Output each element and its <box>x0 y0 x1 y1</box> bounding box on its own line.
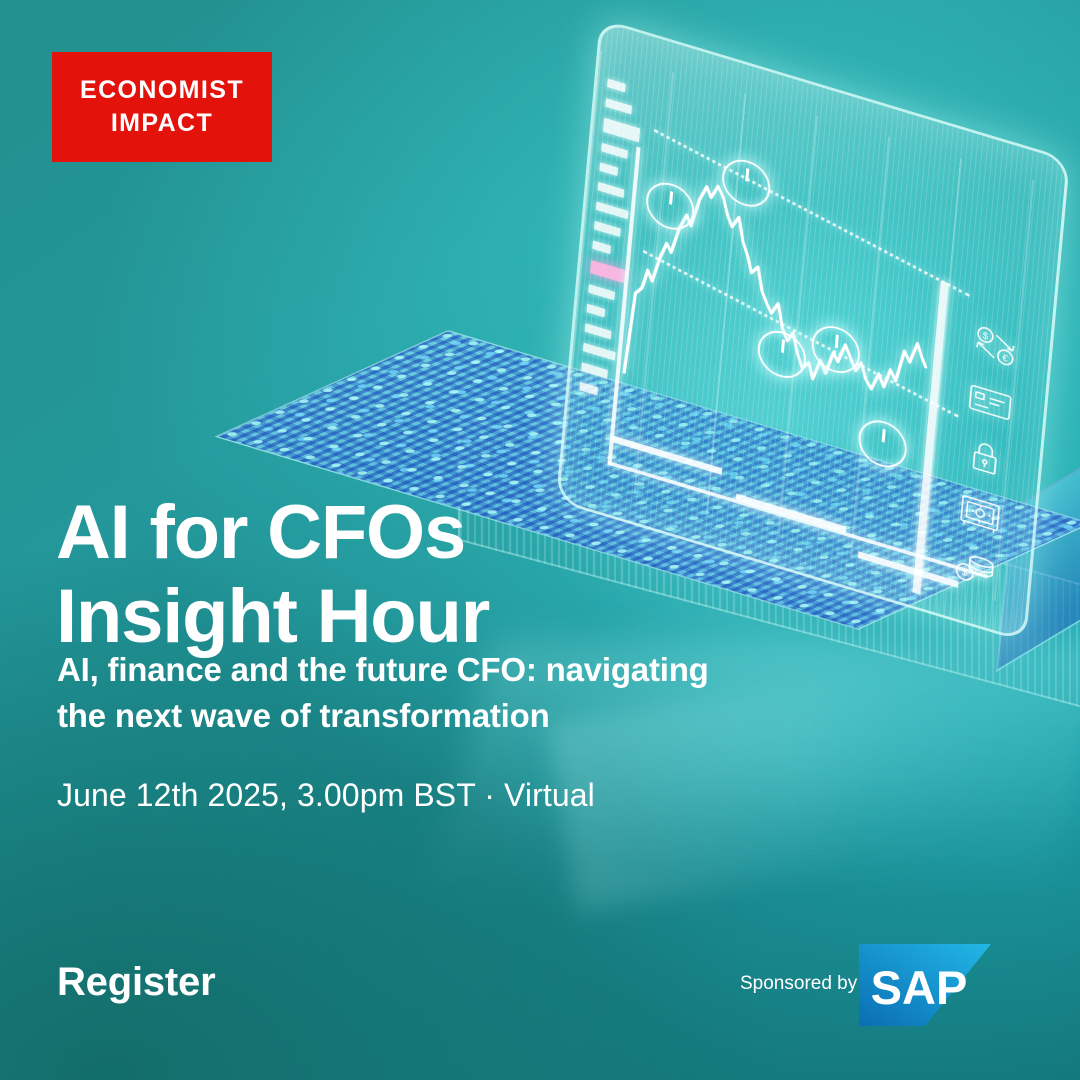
title-line-1: AI for CFOs <box>56 491 676 575</box>
sidebar-divider <box>912 281 948 595</box>
bottom-bar-segment <box>736 494 847 534</box>
data-point-marker <box>644 177 696 236</box>
credit-card-icon <box>960 376 1021 428</box>
axis-tick-scale <box>578 79 643 413</box>
trend-band-lower <box>643 250 959 418</box>
data-point-marker <box>857 414 909 473</box>
sponsored-by-label: Sponsored by <box>740 972 857 996</box>
event-subtitle: AI, finance and the future CFO: navigati… <box>57 647 747 739</box>
subtitle-line-1: AI, finance and the future CFO: navigati… <box>57 647 747 693</box>
highlighted-tick <box>590 260 625 283</box>
safe-vault-icon <box>950 487 1011 539</box>
poster-canvas: $ € <box>0 0 1080 1080</box>
svg-text:$: $ <box>961 568 968 580</box>
coin-stack-icon: $ <box>944 542 1005 594</box>
subtitle-line-2: the next wave of transformation <box>57 693 747 739</box>
logo-line-1: ECONOMIST <box>80 74 244 107</box>
logo-line-2: IMPACT <box>111 107 213 140</box>
sap-wordmark: SAP <box>871 961 968 1014</box>
economist-impact-logo[interactable]: ECONOMIST IMPACT <box>52 52 272 162</box>
data-point-marker <box>756 325 808 384</box>
data-point-marker <box>720 154 772 213</box>
bottom-bar-segment <box>858 551 959 588</box>
register-link[interactable]: Register <box>57 957 215 1007</box>
svg-text:€: € <box>1002 353 1009 365</box>
y-axis <box>607 146 640 465</box>
page-title: AI for CFOs Insight Hour <box>56 491 676 659</box>
sap-logo[interactable]: SAP <box>859 944 991 1026</box>
data-point-marker <box>810 320 862 379</box>
slab-side-face <box>996 434 1080 672</box>
currency-exchange-icon: $ € <box>965 320 1026 372</box>
screen-icon-rail: $ € <box>934 301 1037 598</box>
svg-text:$: $ <box>982 331 989 343</box>
padlock-icon <box>955 431 1016 483</box>
bottom-bar-segment <box>612 435 723 475</box>
event-datetime: June 12th 2025, 3.00pm BST · Virtual <box>57 775 595 815</box>
chart-line <box>610 91 944 553</box>
trend-band-upper <box>654 129 970 297</box>
